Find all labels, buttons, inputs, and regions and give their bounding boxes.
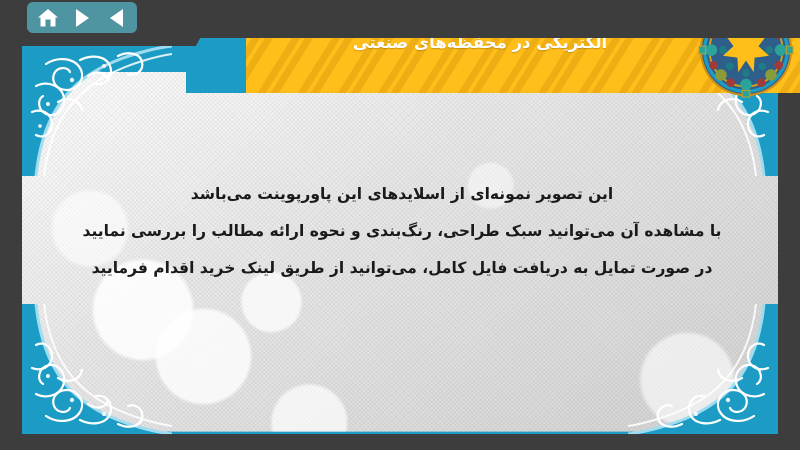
slide-top-band <box>22 46 778 72</box>
slide-frame: این تصویر نمونه‌ای از اسلایدهای این پاور… <box>22 46 778 434</box>
home-button[interactable] <box>33 5 63 31</box>
triangle-left-icon <box>110 9 123 27</box>
slide-body-text: این تصویر نمونه‌ای از اسلایدهای این پاور… <box>62 176 742 287</box>
viewer-navigation-bar <box>0 0 800 38</box>
body-line: این تصویر نمونه‌ای از اسلایدهای این پاور… <box>62 176 742 213</box>
triangle-right-icon <box>76 9 89 27</box>
next-slide-button[interactable] <box>67 5 97 31</box>
previous-slide-button[interactable] <box>101 5 131 31</box>
body-line: در صورت تمایل به دریافت فایل کامل، می‌تو… <box>62 250 742 287</box>
body-line: با مشاهده آن می‌توانید سبک طراحی، رنگ‌بن… <box>62 213 742 250</box>
home-icon <box>37 8 59 28</box>
presentation-viewer: این تصویر نمونه‌ای از اسلایدهای این پاور… <box>0 0 800 450</box>
nav-button-group <box>27 2 137 33</box>
